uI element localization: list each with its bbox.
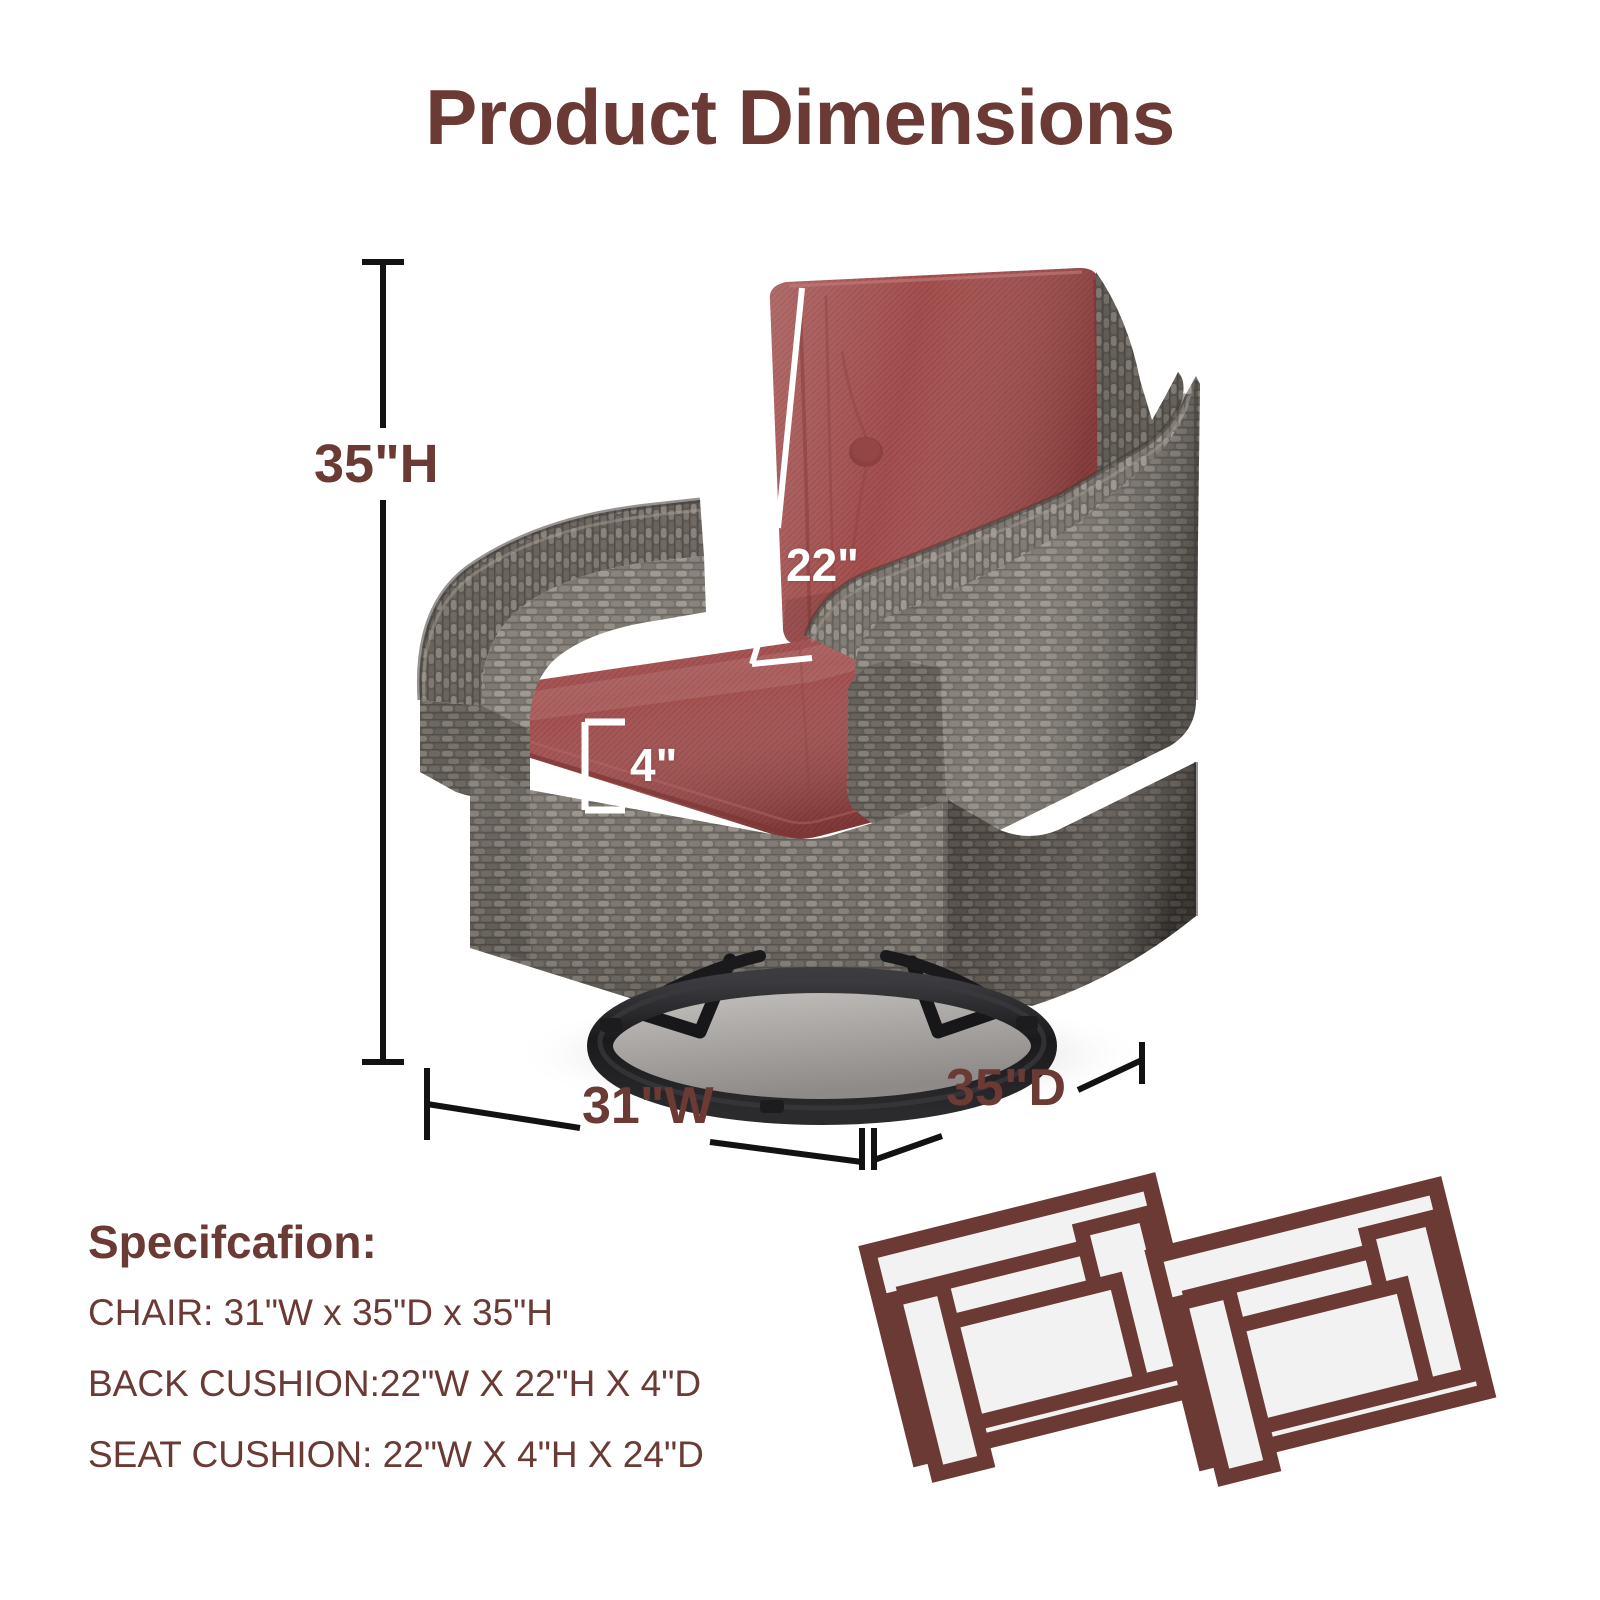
infographic-canvas: Product Dimensions <box>0 0 1600 1600</box>
armchair-outline-icon <box>1154 1186 1492 1481</box>
armchair-outline-icon <box>868 1182 1206 1477</box>
armchair-outline-icons <box>0 0 1600 1600</box>
